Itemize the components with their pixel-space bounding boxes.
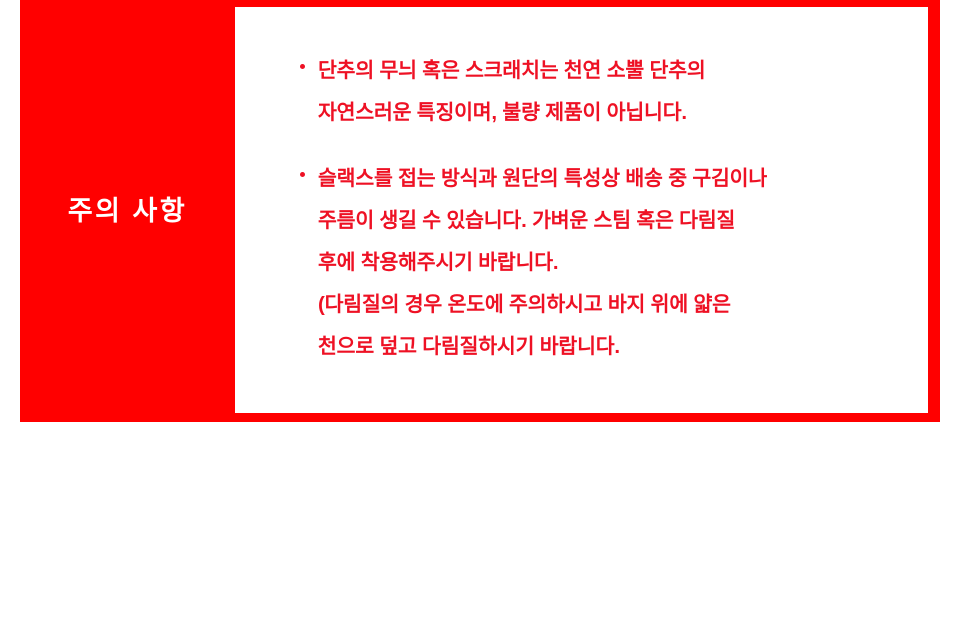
notice-line: 자연스러운 특징이며, 불량 제품이 아닙니다. <box>318 92 920 134</box>
notice-item: 슬랙스를 접는 방식과 원단의 특성상 배송 중 구김이나 주름이 생길 수 있… <box>300 158 920 368</box>
notice-item: 단추의 무늬 혹은 스크래치는 천연 소뿔 단추의 자연스러운 특징이며, 불량… <box>300 50 920 134</box>
notice-line: 후에 착용해주시기 바랍니다. <box>318 242 920 284</box>
notice-line: 슬랙스를 접는 방식과 원단의 특성상 배송 중 구김이나 <box>318 158 920 200</box>
notice-block: 주의 사항 단추의 무늬 혹은 스크래치는 천연 소뿔 단추의 자연스러운 특징… <box>20 0 940 422</box>
notice-line: 천으로 덮고 다림질하시기 바랍니다. <box>318 326 920 368</box>
notice-label-title: 주의 사항 <box>68 195 187 227</box>
notice-content-panel: 단추의 무늬 혹은 스크래치는 천연 소뿔 단추의 자연스러운 특징이며, 불량… <box>235 7 928 413</box>
notice-item-text: 단추의 무늬 혹은 스크래치는 천연 소뿔 단추의 자연스러운 특징이며, 불량… <box>318 50 920 134</box>
notice-list: 단추의 무늬 혹은 스크래치는 천연 소뿔 단추의 자연스러운 특징이며, 불량… <box>300 50 920 368</box>
bullet-dot-icon <box>300 172 305 177</box>
notice-line: 단추의 무늬 혹은 스크래치는 천연 소뿔 단추의 <box>318 50 920 92</box>
notice-item-text: 슬랙스를 접는 방식과 원단의 특성상 배송 중 구김이나 주름이 생길 수 있… <box>318 158 920 368</box>
notice-line: (다림질의 경우 온도에 주의하시고 바지 위에 얇은 <box>318 284 920 326</box>
notice-label-column: 주의 사항 <box>20 0 235 422</box>
bullet-dot-icon <box>300 64 305 69</box>
notice-line: 주름이 생길 수 있습니다. 가벼운 스팀 혹은 다림질 <box>318 200 920 242</box>
